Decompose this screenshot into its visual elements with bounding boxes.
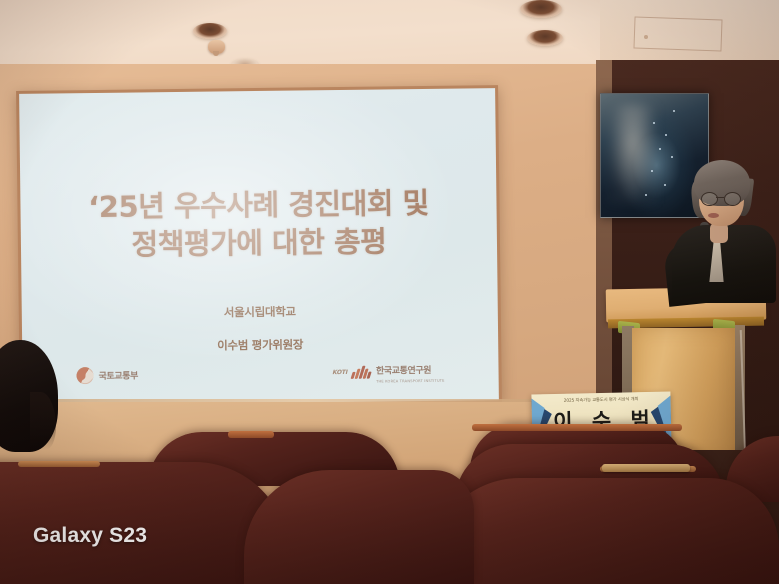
logo-koti: KOTI 한국교통연구원 THE KOREA TRANSPORT INSTITU… <box>332 360 444 384</box>
artwork-spark <box>659 148 661 150</box>
projection-screen: ‘25년 우수사례 경진대회 및 정책평가에 대한 총평 서울시립대학교 이수범… <box>19 88 499 406</box>
sprinkler-head-icon <box>208 40 225 54</box>
eyeglass-lens-left <box>701 192 718 206</box>
seat-row-mid-center <box>244 470 474 584</box>
slide-title-line-2: 정책평가에 대한 총평 <box>89 223 430 265</box>
downlight-icon <box>527 30 563 46</box>
projection-screen-frame: ‘25년 우수사례 경진대회 및 정책평가에 대한 총평 서울시립대학교 이수범… <box>16 85 502 409</box>
seat-rail <box>228 431 274 438</box>
downlight-icon <box>193 23 227 39</box>
artwork-spark <box>645 194 647 196</box>
logo-koti-sublabel: THE KOREA TRANSPORT INSTITUTE <box>376 379 445 384</box>
artwork-spark <box>671 156 673 158</box>
speaker-mouth <box>708 213 719 218</box>
conference-photo: ‘25년 우수사례 경진대회 및 정책평가에 대한 총평 서울시립대학교 이수범… <box>0 0 779 584</box>
artwork-spark <box>653 122 655 124</box>
slide-logo-row: 국토교통부 KOTI 한국교통연구원 THE <box>22 359 498 388</box>
seat-armrest <box>18 461 100 467</box>
smartphone-on-seat <box>602 464 690 472</box>
artwork-spark <box>673 110 675 112</box>
artwork-spark <box>651 170 653 172</box>
eyeglasses-icon <box>700 192 742 205</box>
speaker-neck <box>710 223 728 243</box>
device-watermark: Galaxy S23 <box>33 524 147 548</box>
presentation-slide: ‘25년 우수사례 경진대회 및 정책평가에 대한 총평 서울시립대학교 이수범… <box>19 88 499 406</box>
seat-row-front-right <box>430 478 779 584</box>
eyeglass-lens-right <box>724 192 741 206</box>
slide-affiliation: 서울시립대학교 <box>224 304 296 321</box>
logo-molit: 국토교통부 <box>76 366 138 384</box>
artwork-spark <box>664 184 666 186</box>
ceiling-access-panel <box>633 16 722 51</box>
eyeglass-bridge <box>716 197 724 198</box>
slide-title: ‘25년 우수사례 경진대회 및 정책평가에 대한 총평 <box>88 185 429 265</box>
seat-rail <box>472 424 682 431</box>
logo-koti-label: 한국교통연구원 <box>376 366 431 377</box>
taegeuk-icon <box>76 367 93 384</box>
koti-text-block: 한국교통연구원 THE KOREA TRANSPORT INSTITUTE <box>376 360 445 384</box>
slide-title-line-1: ‘25년 우수사례 경진대회 및 <box>88 185 429 227</box>
downlight-icon <box>520 0 562 18</box>
koti-stripes-icon <box>350 366 373 379</box>
artwork-spark <box>665 134 667 136</box>
koti-wordmark: KOTI <box>332 369 349 376</box>
logo-molit-label: 국토교통부 <box>98 368 138 381</box>
artwork-glow <box>609 104 657 204</box>
slide-presenter: 이수범 평가위원장 <box>217 337 303 354</box>
